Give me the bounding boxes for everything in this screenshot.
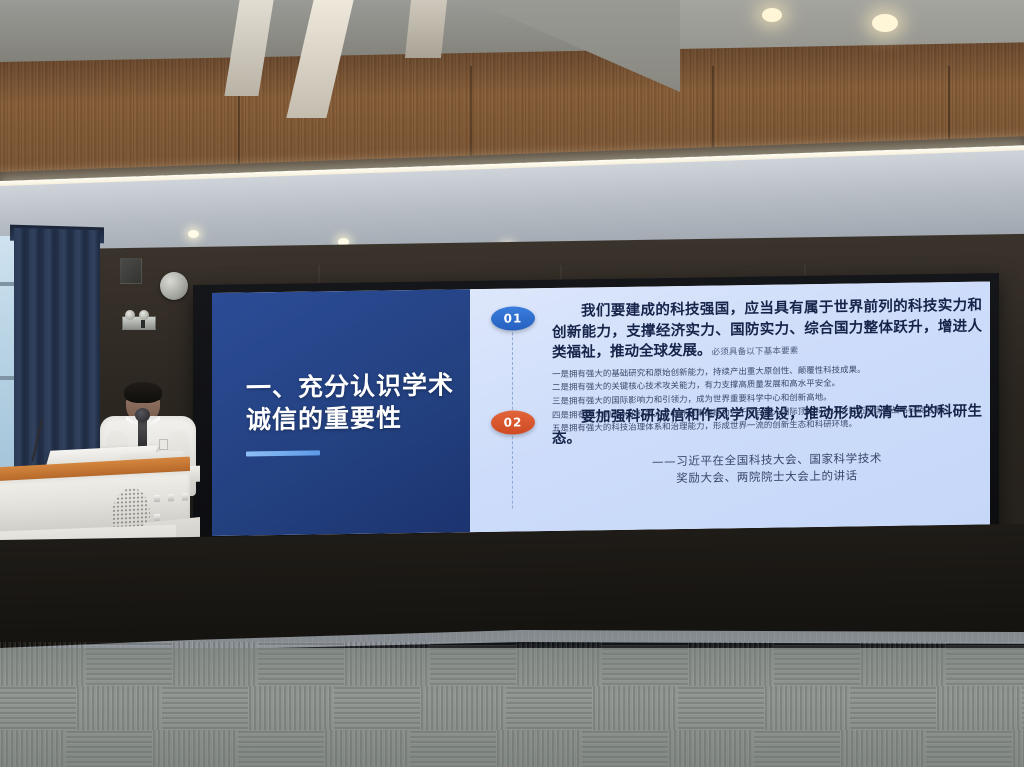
carpet-tile bbox=[668, 730, 754, 767]
carpet-tile bbox=[496, 730, 582, 767]
carpet-tile bbox=[258, 642, 344, 686]
carpet-tile bbox=[936, 686, 1022, 730]
carpet-tile bbox=[1012, 730, 1024, 767]
carpet-tile bbox=[774, 642, 860, 686]
carpet-tile bbox=[334, 686, 420, 730]
carpet-tile bbox=[516, 642, 602, 686]
block-01-lead-text: 我们要建成的科技强国，应当具有属于世界前列的科技实力和创新能力，支撑经济实力、国… bbox=[552, 296, 982, 364]
ceiling-downlight bbox=[188, 230, 199, 238]
carpet-tile bbox=[860, 642, 946, 686]
carpet-tile bbox=[946, 642, 1024, 686]
stage-front-face bbox=[0, 524, 1024, 648]
carpet-tile bbox=[76, 686, 162, 730]
ceiling-downlight bbox=[762, 8, 782, 22]
presenter-hair bbox=[124, 382, 162, 403]
microphone-head bbox=[135, 408, 150, 422]
presentation-slide[interactable]: 一、充分认识学术诚信的重要性 01 我们要建成的科技强国，应当具有属于世界前列的… bbox=[212, 281, 990, 536]
carpet-tile bbox=[754, 730, 840, 767]
carpet-tile bbox=[152, 730, 238, 767]
carpet-tile bbox=[172, 642, 258, 686]
wall-speaker bbox=[120, 258, 142, 284]
carpet-tile bbox=[0, 730, 66, 767]
ceiling-downlight bbox=[872, 14, 898, 32]
attribution-line-2: 奖励大会、两院院士大会上的讲话 bbox=[552, 466, 982, 490]
slide-title: 一、充分认识学术诚信的重要性 bbox=[246, 369, 454, 437]
carpet-tile bbox=[926, 730, 1012, 767]
carpet-tile bbox=[162, 686, 248, 730]
podium-button[interactable] bbox=[154, 495, 160, 502]
slide-title-panel: 一、充分认识学术诚信的重要性 bbox=[212, 289, 470, 536]
block-badge-02: 02 bbox=[491, 410, 535, 435]
carpet-tile bbox=[420, 686, 506, 730]
carpet-tile bbox=[66, 730, 152, 767]
carpet-tile bbox=[324, 730, 410, 767]
block-02-lead-text: 要加强科研诚信和作风学风建设，推动形成风清气正的科研生态。 bbox=[552, 402, 982, 450]
carpet-tile bbox=[248, 686, 334, 730]
carpet-tile bbox=[764, 686, 850, 730]
podium-control-buttons[interactable] bbox=[154, 485, 198, 495]
carpet-tile bbox=[0, 686, 76, 730]
carpet-tile bbox=[678, 686, 764, 730]
wall-clock bbox=[160, 272, 188, 300]
carpet-floor bbox=[0, 648, 1024, 767]
podium-button[interactable] bbox=[182, 493, 188, 500]
carpet-tile bbox=[582, 730, 668, 767]
block-badge-01: 01 bbox=[491, 306, 535, 331]
carpet-tile bbox=[238, 730, 324, 767]
carpet-tile bbox=[602, 642, 688, 686]
slide-content-panel: 01 我们要建成的科技强国，应当具有属于世界前列的科技实力和创新能力，支撑经济实… bbox=[470, 281, 990, 532]
carpet-tile bbox=[344, 642, 430, 686]
lecture-hall-scene: 一、充分认识学术诚信的重要性 01 我们要建成的科技强国，应当具有属于世界前列的… bbox=[0, 0, 1024, 767]
block-01-lead-tail: 必须具备以下基本要素 bbox=[712, 346, 799, 357]
content-block-02: 要加强科研诚信和作风学风建设，推动形成风清气正的科研生态。 ——习近平在全国科技… bbox=[552, 402, 982, 490]
carpet-tile bbox=[506, 686, 592, 730]
podium-button[interactable] bbox=[154, 514, 160, 521]
block-02-attribution: ——习近平在全国科技大会、国家科学技术 奖励大会、两院院士大会上的讲话 bbox=[552, 449, 982, 490]
presenter-name-badge bbox=[160, 440, 167, 449]
carpet-tile bbox=[86, 642, 172, 686]
carpet-tile-grid bbox=[0, 648, 1024, 767]
carpet-tile bbox=[430, 642, 516, 686]
carpet-tile bbox=[0, 642, 86, 686]
emergency-light-fixture bbox=[122, 316, 156, 330]
carpet-tile bbox=[410, 730, 496, 767]
carpet-tile bbox=[850, 686, 936, 730]
carpet-tile bbox=[688, 642, 774, 686]
carpet-tile bbox=[592, 686, 678, 730]
title-accent-rule bbox=[246, 450, 320, 456]
podium-button[interactable] bbox=[168, 494, 174, 501]
attribution-line-1: ——习近平在全国科技大会、国家科学技术 bbox=[652, 451, 882, 468]
carpet-tile bbox=[840, 730, 926, 767]
ceiling-fin bbox=[405, 0, 447, 58]
